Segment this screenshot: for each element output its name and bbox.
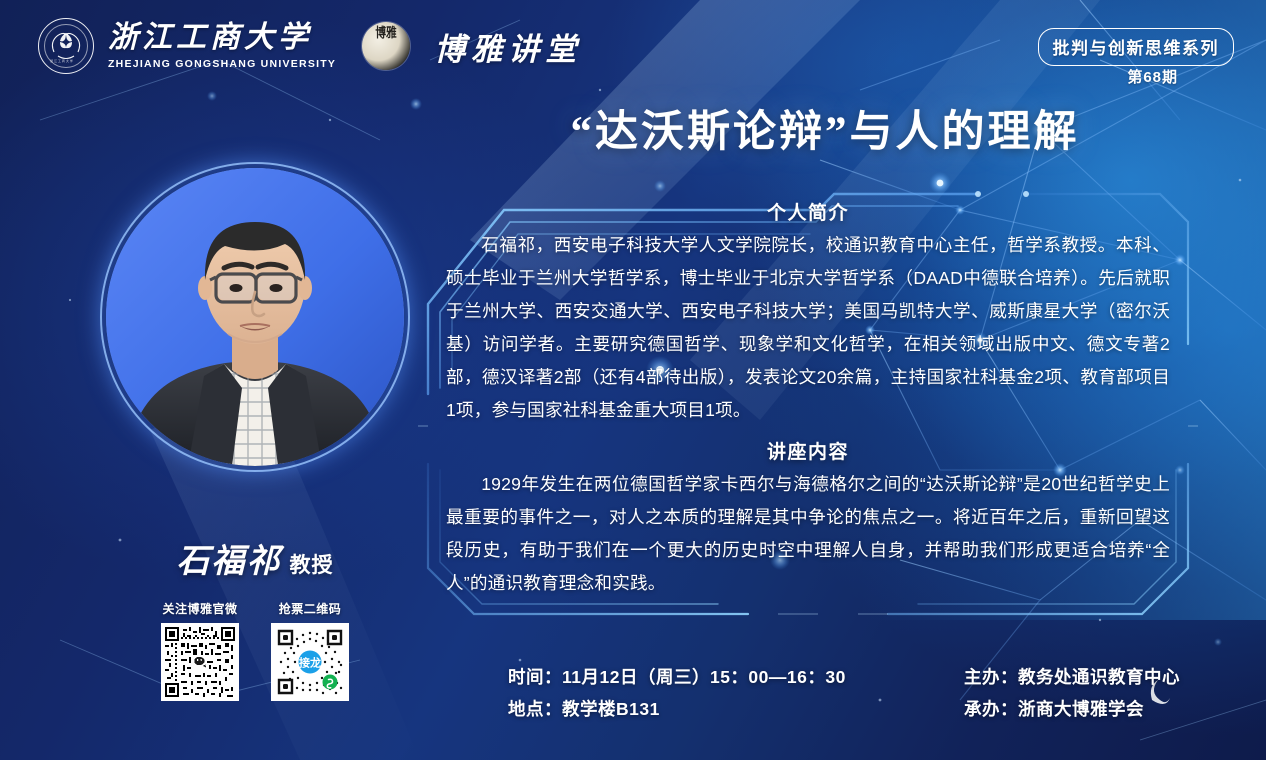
svg-text:浙 江 工 商 大 学: 浙 江 工 商 大 学	[50, 58, 73, 63]
university-name: 浙江工商大学 ZHEJIANG GONGSHANG UNIVERSITY	[108, 23, 336, 70]
qr-label-wechat: 关注博雅官微	[161, 600, 239, 617]
brand-row: 浙 江 工 商 大 学 浙江工商大学 ZHEJIANG GONGSHANG UN…	[38, 18, 582, 74]
event-time: 时间：11月12日（周三）15：00—16：30	[508, 664, 908, 689]
speaker-role: 教授	[290, 554, 334, 577]
speaker-portrait	[106, 168, 404, 466]
poster-header: 浙 江 工 商 大 学 浙江工商大学 ZHEJIANG GONGSHANG UN…	[0, 0, 1266, 96]
ticket-qr-code[interactable]: 接龙	[271, 623, 349, 701]
content-panel: 个人简介 石福祁，西安电子科技大学人文学院院长，校通识教育中心主任，哲学系教授。…	[418, 164, 1198, 658]
event-place: 地点：教学楼B131	[508, 696, 908, 721]
panel-body: 个人简介 石福祁，西安电子科技大学人文学院院长，校通识教育中心主任，哲学系教授。…	[446, 198, 1170, 600]
section-heading-bio: 个人简介	[446, 198, 1170, 225]
issue-number: 第68期	[1127, 66, 1178, 87]
section-body-bio: 石福祁，西安电子科技大学人文学院院长，校通识教育中心主任，哲学系教授。本科、硕士…	[446, 229, 1170, 427]
wechat-qr-code[interactable]	[161, 623, 239, 701]
section-body-content: 1929年发生在两位德国哲学家卡西尔与海德格尔之间的“达沃斯论辩”是20世纪哲学…	[446, 468, 1170, 600]
footer-col-organizers: 主办：教务处通识教育中心 承办：浙商大博雅学会	[964, 664, 1180, 721]
footer-col-event: 时间：11月12日（周三）15：00—16：30 地点：教学楼B131	[508, 664, 908, 721]
section-heading-content: 讲座内容	[446, 437, 1170, 464]
poster-footer: 时间：11月12日（周三）15：00—16：30 地点：教学楼B131 主办：教…	[508, 664, 1208, 721]
qr-label-ticket: 抢票二维码	[271, 600, 349, 617]
series-badge: 批判与创新思维系列	[1038, 28, 1235, 66]
boya-seal-icon: 博雅	[362, 22, 410, 70]
seal-text: 博雅	[367, 26, 406, 41]
page-title: “达沃斯论辩”与人的理解	[430, 96, 1220, 160]
university-name-cn: 浙江工商大学	[108, 23, 336, 53]
speaker-name: 石福祁	[177, 544, 282, 580]
lecture-poster: 浙 江 工 商 大 学 浙江工商大学 ZHEJIANG GONGSHANG UN…	[0, 0, 1266, 760]
event-organizer: 主办：教务处通识教育中心	[964, 664, 1180, 689]
speaker-name-line: 石福祁教授	[106, 534, 404, 582]
speaker-portrait-photo	[106, 168, 404, 466]
qr-center-label: 接龙	[299, 656, 321, 670]
qr-code-row: 关注博雅官微	[118, 600, 392, 701]
qr-block-wechat[interactable]: 关注博雅官微	[161, 600, 239, 701]
university-crest-icon: 浙 江 工 商 大 学	[38, 18, 94, 74]
event-co-organizer: 承办：浙商大博雅学会	[964, 696, 1180, 721]
lecture-brand-title: 博雅讲堂	[434, 24, 582, 69]
university-name-en: ZHEJIANG GONGSHANG UNIVERSITY	[108, 59, 336, 70]
qr-block-ticket[interactable]: 抢票二维码	[271, 600, 349, 701]
